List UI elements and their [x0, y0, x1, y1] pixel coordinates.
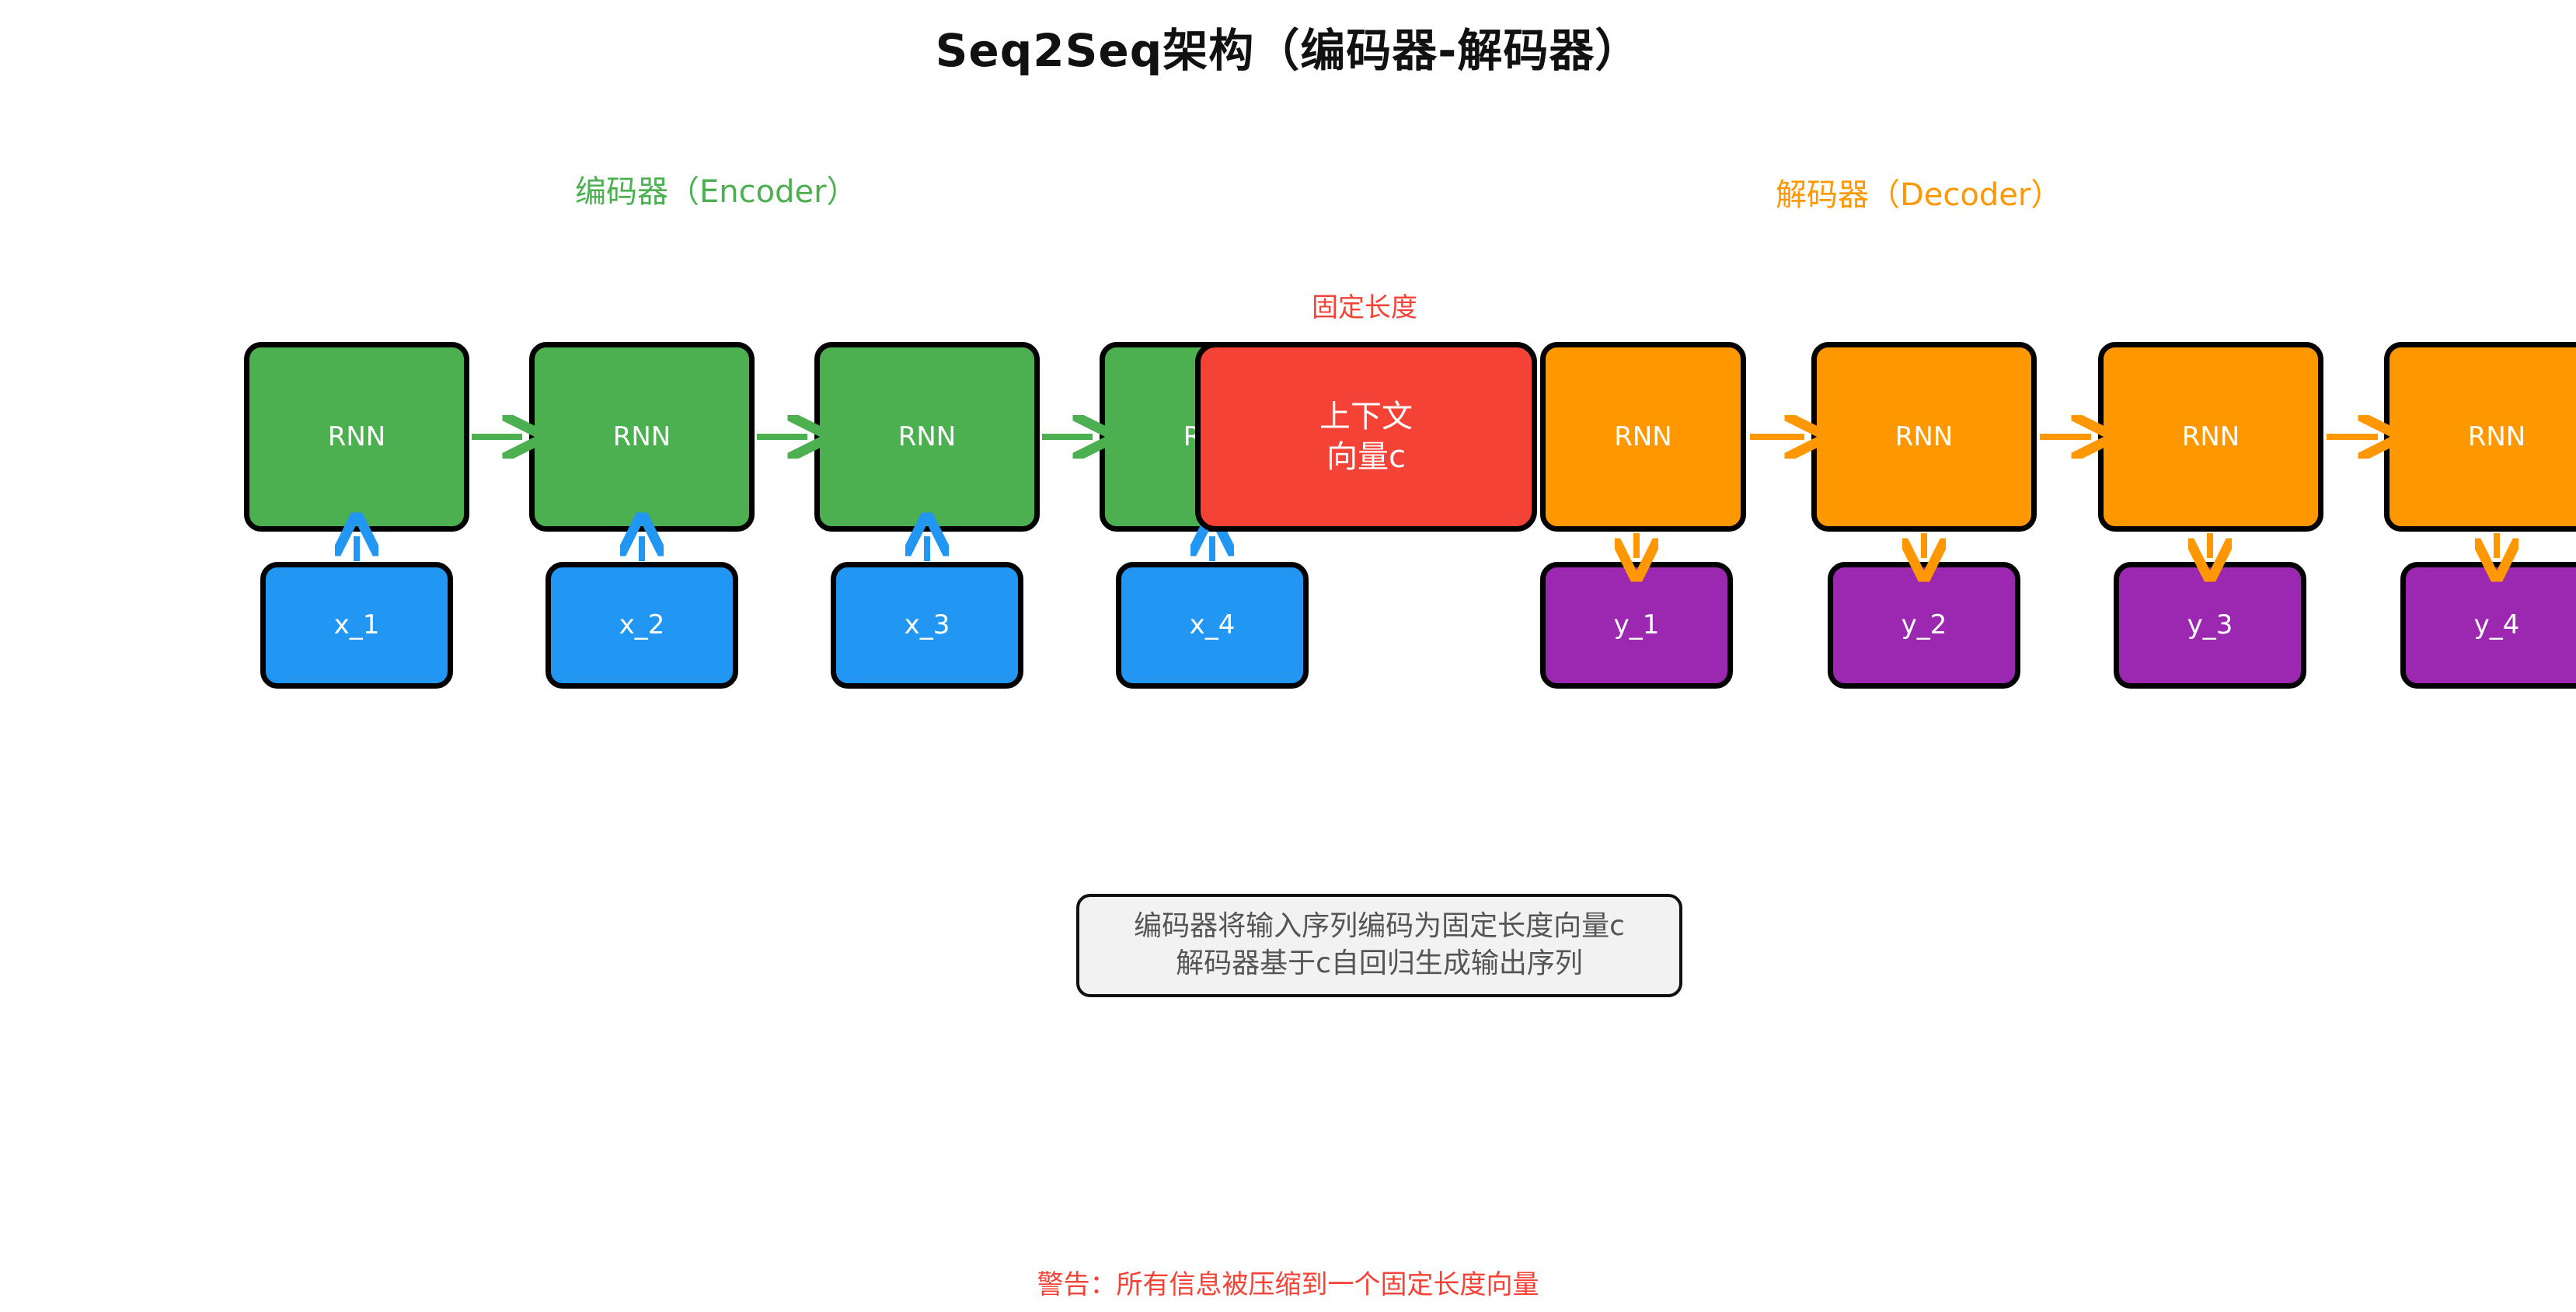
context-vector-box[interactable]: 上下文 向量c — [1195, 342, 1537, 532]
explanation-line-1: 编码器将输入序列编码为固定长度向量c — [1087, 908, 1671, 945]
explanation-box: 编码器将输入序列编码为固定长度向量c 解码器基于c自回归生成输出序列 — [1076, 894, 1682, 997]
encoder-input-2-label: x_2 — [619, 609, 665, 642]
context-vector-line1: 上下文 — [1319, 396, 1413, 437]
encoder-input-3-label: x_3 — [905, 609, 950, 642]
encoder-input-4-label: x_4 — [1190, 609, 1236, 642]
encoder-input-1[interactable]: x_1 — [260, 562, 453, 689]
decoder-rnn-2-label: RNN — [1895, 420, 1954, 454]
diagram-canvas: Seq2Seq架构（编码器-解码器） 编码器（Encoder） 解码器（Deco… — [0, 0, 2576, 1312]
warning-text: 警告：所有信息被压缩到一个固定长度向量 — [0, 1263, 2576, 1301]
encoder-rnn-1[interactable]: RNN — [244, 342, 469, 532]
encoder-input-2[interactable]: x_2 — [546, 562, 738, 689]
encoder-input-1-label: x_1 — [334, 609, 380, 642]
encoder-input-3[interactable]: x_3 — [831, 562, 1023, 689]
decoder-section-label: 解码器（Decoder） — [1776, 169, 2062, 215]
encoder-rnn-2[interactable]: RNN — [529, 342, 755, 532]
encoder-rnn-3[interactable]: RNN — [814, 342, 1040, 532]
decoder-output-4-label: y_4 — [2474, 609, 2520, 642]
decoder-output-2-label: y_2 — [1901, 609, 1947, 642]
decoder-rnn-1-label: RNN — [1614, 420, 1672, 454]
context-vector-line2: 向量c — [1319, 437, 1413, 477]
decoder-rnn-1[interactable]: RNN — [1540, 342, 1746, 532]
encoder-input-4[interactable]: x_4 — [1116, 562, 1309, 689]
decoder-output-1[interactable]: y_1 — [1540, 562, 1733, 689]
decoder-rnn-4-label: RNN — [2468, 420, 2526, 454]
decoder-rnn-3-label: RNN — [2182, 420, 2240, 454]
decoder-output-3[interactable]: y_3 — [2114, 562, 2306, 689]
decoder-output-1-label: y_1 — [1614, 609, 1660, 642]
decoder-output-3-label: y_3 — [2187, 609, 2233, 642]
decoder-output-4[interactable]: y_4 — [2400, 562, 2576, 689]
encoder-rnn-2-label: RNN — [613, 420, 671, 454]
decoder-output-2[interactable]: y_2 — [1828, 562, 2020, 689]
encoder-section-label: 编码器（Encoder） — [575, 166, 858, 211]
explanation-line-2: 解码器基于c自回归生成输出序列 — [1087, 945, 1671, 982]
decoder-rnn-3[interactable]: RNN — [2098, 342, 2323, 532]
encoder-rnn-3-label: RNN — [898, 420, 957, 454]
fixed-length-label: 固定长度 — [1312, 286, 1417, 324]
page-title: Seq2Seq架构（编码器-解码器） — [0, 14, 2576, 79]
decoder-rnn-4[interactable]: RNN — [2384, 342, 2576, 532]
decoder-rnn-2[interactable]: RNN — [1811, 342, 2037, 532]
encoder-rnn-1-label: RNN — [328, 420, 386, 454]
